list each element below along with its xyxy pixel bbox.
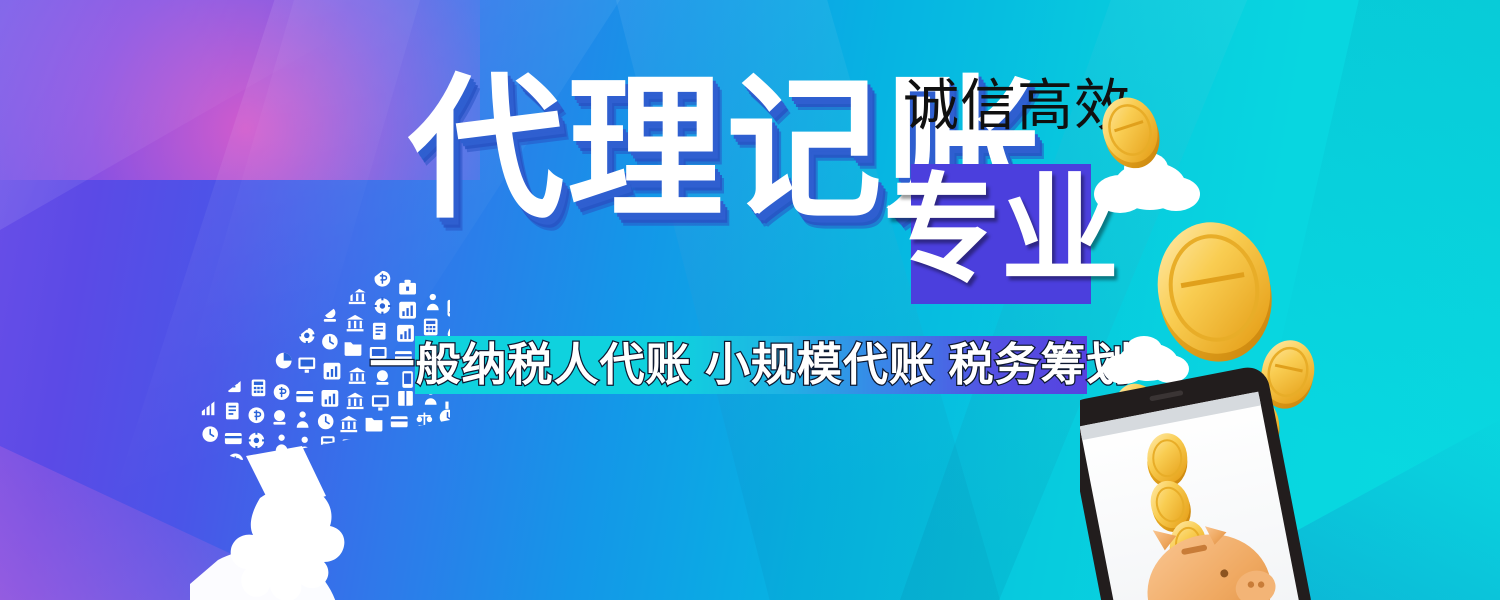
promo-banner: 代理记账 诚信高效 专业 一般纳税人代账 小规模代账 税务筹划 (0, 0, 1500, 600)
services-band-label: 一般纳税人代账 小规模代账 税务筹划 (370, 342, 1133, 387)
services-band: 一般纳税人代账 小规模代账 税务筹划 (415, 336, 1087, 394)
pro-badge: 专业 (911, 164, 1091, 304)
tagline-text: 诚信高效 (903, 78, 1131, 134)
pro-badge-label: 专业 (883, 172, 1119, 290)
